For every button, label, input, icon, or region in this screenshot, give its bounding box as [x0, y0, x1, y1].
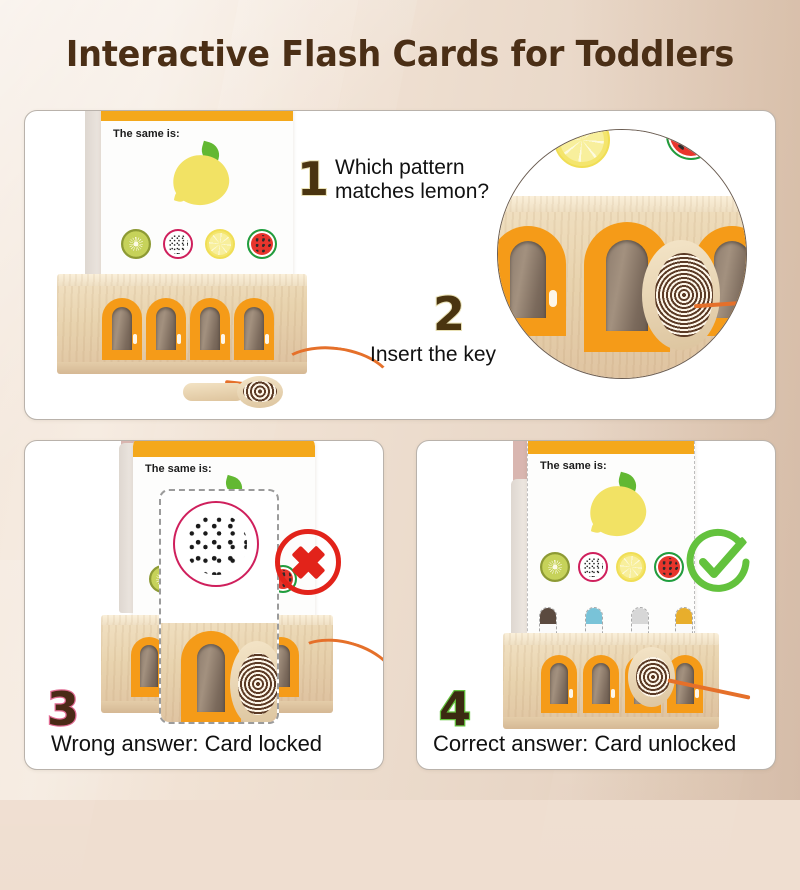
step-3-wrong-answer-panel: The same is: 3 Wrong answer: Card	[24, 440, 384, 770]
slot-nub	[265, 334, 269, 344]
step-number-3: 3	[47, 686, 79, 732]
closeup-inserted-key	[606, 240, 736, 350]
keyhole	[550, 663, 567, 704]
step-1-line-2: matches lemon?	[335, 180, 525, 204]
option-watermelon-slice[interactable]	[654, 552, 684, 582]
option-lemon-slice[interactable]	[616, 552, 646, 582]
slot-nub	[221, 334, 225, 344]
steps-1-and-2-panel: The same is: 1 Which pattern matches lem…	[24, 110, 776, 420]
keyhole	[592, 663, 609, 704]
slot-nub	[569, 689, 573, 698]
tile-artwork	[632, 608, 648, 624]
inserted-wooden-key[interactable]	[617, 647, 677, 707]
keyhole	[200, 307, 219, 350]
wrong-answer-x-icon	[275, 529, 341, 595]
slot-nub	[177, 334, 181, 344]
key-closeup-magnifier	[497, 129, 747, 379]
lemon-illustration	[173, 143, 229, 205]
option-dragonfruit-slice[interactable]	[578, 552, 608, 582]
page-title: Interactive Flash Cards for Toddlers	[28, 34, 772, 75]
zoom-dragonfruit-slice	[173, 501, 259, 587]
closeup-key-slot-left	[497, 226, 566, 336]
tile-artwork	[586, 608, 602, 624]
key-handle	[183, 383, 245, 401]
wooden-key[interactable]	[183, 376, 283, 408]
correct-answer-caption: Correct answer: Card unlocked	[433, 731, 736, 757]
wooden-base	[503, 633, 719, 729]
keyhole	[244, 307, 263, 350]
card-prompt-label: The same is:	[145, 463, 212, 475]
card-prompt-label: The same is:	[113, 128, 180, 140]
key-slot-3[interactable]	[190, 298, 230, 360]
card-prompt-label: The same is:	[540, 460, 607, 472]
step-4-correct-answer-panel: The same is: 4 Correct answer: Card unlo…	[416, 440, 776, 770]
key-rings-pattern	[655, 253, 712, 337]
key-slot-4[interactable]	[234, 298, 274, 360]
option-dragonfruit-slice[interactable]	[163, 229, 193, 259]
key-rings-pattern	[636, 657, 670, 698]
step-1-line-1: Which pattern	[335, 156, 525, 180]
keyhole	[112, 307, 131, 350]
slot-nub	[695, 689, 699, 698]
slot-nub	[549, 290, 557, 308]
base-bottom-edge	[57, 362, 307, 374]
zoom-blocked-key	[201, 641, 279, 724]
key-slot-2[interactable]	[583, 655, 619, 713]
option-kiwi-slice[interactable]	[540, 552, 570, 582]
keyhole	[140, 645, 157, 687]
key-slot-1[interactable]	[102, 298, 142, 360]
flash-card: The same is:	[101, 110, 293, 287]
wrong-answer-caption: Wrong answer: Card locked	[51, 731, 322, 757]
step-1-text: Which pattern matches lemon?	[335, 156, 525, 203]
option-kiwi-slice[interactable]	[121, 229, 151, 259]
tile-artwork	[676, 608, 692, 624]
base-bottom-edge	[503, 717, 719, 729]
option-watermelon-slice[interactable]	[247, 229, 277, 259]
step-number-1: 1	[297, 156, 329, 202]
keyhole	[156, 307, 175, 350]
slot-nub	[611, 689, 615, 698]
lemon-illustration	[590, 474, 646, 536]
card-header-band	[133, 440, 315, 457]
key-rings-pattern	[243, 381, 277, 401]
wooden-base	[57, 274, 307, 376]
card-header-band	[101, 110, 293, 121]
slot-nub	[133, 334, 137, 344]
option-lemon-slice[interactable]	[205, 229, 235, 259]
tile-artwork	[540, 608, 556, 624]
card-header-band	[528, 440, 694, 454]
locked-key-zoom-callout	[159, 489, 279, 724]
keyhole	[510, 241, 547, 318]
step-number-2: 2	[433, 291, 465, 337]
key-rings-pattern	[238, 653, 278, 715]
key-slot-1[interactable]	[541, 655, 577, 713]
key-slot-2[interactable]	[146, 298, 186, 360]
correct-answer-check-icon	[683, 527, 753, 597]
step-number-4: 4	[439, 686, 471, 732]
